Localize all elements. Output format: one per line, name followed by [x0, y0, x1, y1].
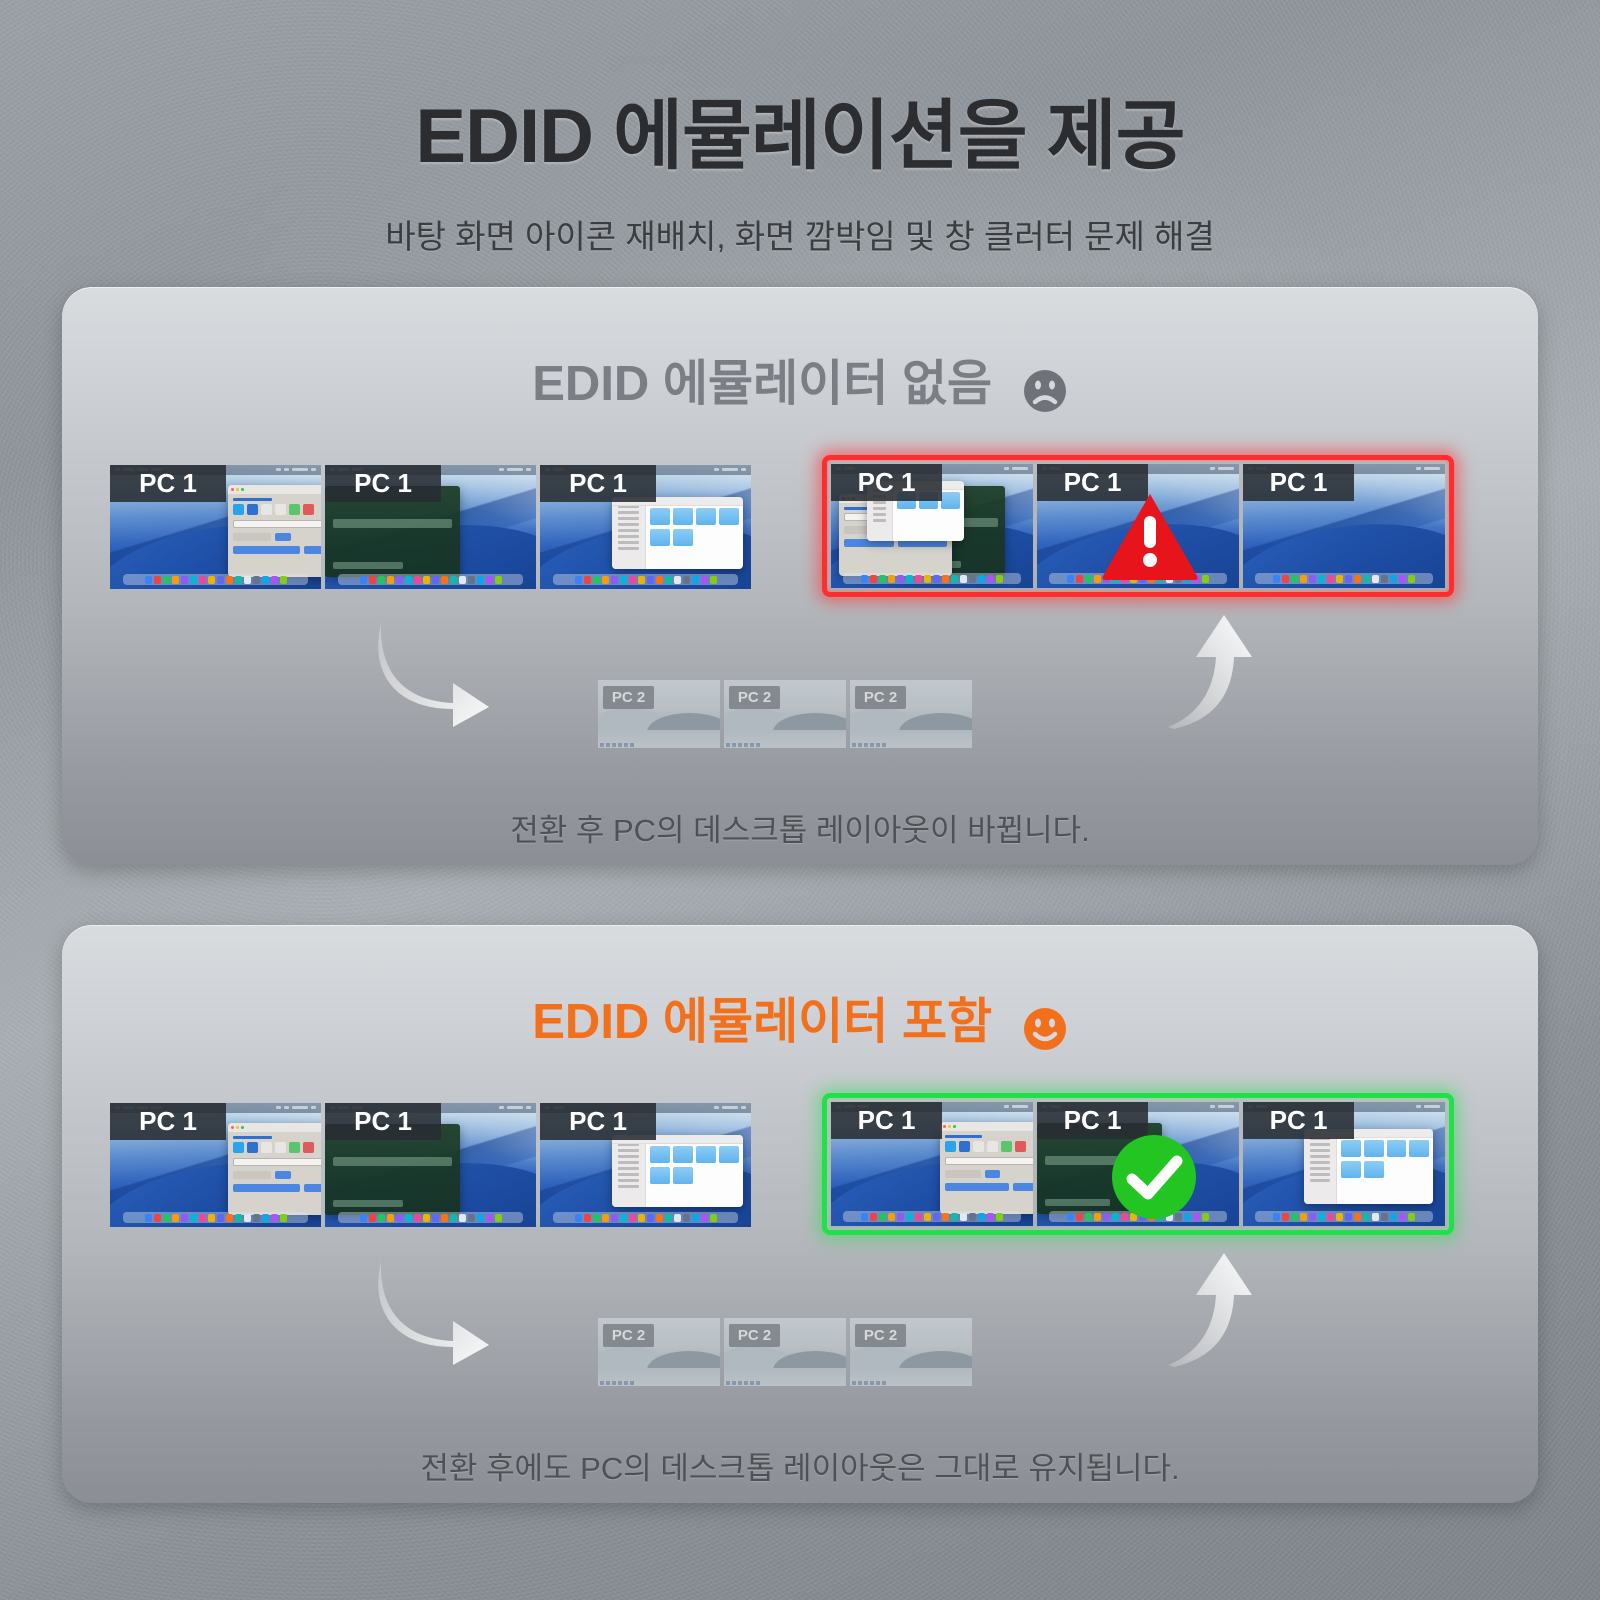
finder-window[interactable] — [612, 1135, 743, 1207]
monitor-pc1-a[interactable]: PC 1 — [110, 1103, 321, 1227]
folder-icon — [696, 1146, 716, 1163]
folder-icon — [650, 1146, 670, 1163]
finder-content — [646, 497, 743, 569]
finder-window[interactable] — [612, 497, 743, 569]
panel-with-edid: EDID 에뮬레이터 포함 — [62, 925, 1538, 1503]
folder-icon — [673, 1146, 693, 1163]
dock — [843, 1211, 1021, 1222]
settings-window[interactable] — [940, 1122, 1033, 1214]
arrow-down-right — [357, 617, 497, 732]
panel-title-text: EDID 에뮬레이터 없음 — [532, 357, 992, 411]
panel-caption-with-edid: 전환 후에도 PC의 데스크톱 레이아웃은 그대로 유지됩니다. — [62, 1443, 1538, 1488]
folder-icon — [650, 1167, 670, 1184]
monitor-pc2-a[interactable]: PC 2 — [598, 1318, 720, 1386]
panel-title-text: EDID 에뮬레이터 포함 — [532, 995, 992, 1049]
monitor-label: PC 1 — [354, 468, 412, 499]
folder-icon — [650, 529, 670, 546]
monitor-result-c[interactable]: PC 1 — [1243, 464, 1445, 588]
source-monitor-group-top: PC 1 PC 1 — [110, 465, 751, 589]
monitor-label: PC 1 — [1064, 1105, 1122, 1136]
folder-icon — [650, 508, 670, 525]
arrow-up-right — [1158, 609, 1268, 734]
monitor-pc2-c[interactable]: PC 2 — [850, 680, 972, 748]
dock — [553, 574, 739, 585]
monitor-pc1-c[interactable]: PC 1 — [540, 1103, 751, 1227]
monitor-label: PC 1 — [354, 1106, 412, 1137]
dock — [1255, 1211, 1433, 1222]
smiley-face-icon — [1022, 1000, 1068, 1056]
folder-icon — [696, 508, 716, 525]
monitor-label-badge: PC 1 — [110, 1103, 226, 1140]
monitor-pc1-a[interactable]: PC 1 — [110, 465, 321, 589]
monitor-label-badge: PC 1 — [540, 465, 656, 502]
window-titlebar — [228, 1123, 321, 1132]
folder-icon — [719, 1146, 739, 1163]
monitor-label-badge: PC 1 — [325, 1103, 441, 1140]
window-titlebar — [940, 1122, 1033, 1131]
page-subtitle: 바탕 화면 아이콘 재배치, 화면 깜박임 및 창 클러터 문제 해결 — [0, 210, 1600, 258]
folder-icon — [1364, 1161, 1384, 1178]
arrow-down-right — [357, 1255, 497, 1370]
dock — [338, 574, 524, 585]
monitor-label-badge: PC 1 — [1243, 1102, 1354, 1139]
settings-window[interactable] — [228, 485, 321, 577]
dock — [338, 1212, 524, 1223]
monitor-label-badge: PC 1 — [831, 464, 942, 501]
panel-title-with-edid: EDID 에뮬레이터 포함 — [62, 982, 1538, 1056]
window-titlebar — [228, 485, 321, 494]
monitor-label-badge: PC 1 — [110, 465, 226, 502]
panel-without-edid: EDID 에뮬레이터 없음 — [62, 287, 1538, 865]
finder-content — [1337, 1129, 1433, 1203]
page-title: EDID 에뮬레이션을 제공 — [0, 74, 1600, 184]
monitor-pc1-c[interactable]: PC 1 — [540, 465, 751, 589]
folder-icon — [1341, 1161, 1361, 1178]
folder-icon — [1387, 1140, 1407, 1157]
folder-icon — [673, 529, 693, 546]
settings-window[interactable] — [228, 1123, 321, 1215]
source-monitor-group-bottom: PC 1 PC 1 — [110, 1103, 751, 1227]
monitor-label-badge: PC 1 — [1243, 464, 1354, 501]
monitor-label: PC 1 — [858, 467, 916, 498]
check-circle-icon — [1110, 1133, 1198, 1226]
finder-content — [646, 1135, 743, 1207]
panel-caption-without-edid: 전환 후 PC의 데스크톱 레이아웃이 바뀝니다. — [62, 805, 1538, 850]
monitor-pc2-b[interactable]: PC 2 — [724, 1318, 846, 1386]
monitor-result-c[interactable]: PC 1 — [1243, 1102, 1445, 1226]
window-body — [228, 494, 321, 563]
folder-icon — [719, 508, 739, 525]
page-header: EDID 에뮬레이션을 제공 바탕 화면 아이콘 재배치, 화면 깜박임 및 창… — [0, 0, 1600, 258]
monitor-label: PC 1 — [1270, 467, 1328, 498]
monitor-label: PC 1 — [569, 468, 627, 499]
monitor-label: PC 1 — [569, 1106, 627, 1137]
folder-icon — [1409, 1140, 1429, 1157]
monitor-pc1-b[interactable]: PC 1 — [325, 1103, 536, 1227]
monitor-label: PC 1 — [139, 468, 197, 499]
dock — [553, 1212, 739, 1223]
dock — [1255, 573, 1433, 584]
warning-triangle-icon — [1100, 490, 1200, 587]
monitor-pc2-c[interactable]: PC 2 — [850, 1318, 972, 1386]
monitor-pc1-b[interactable]: PC 1 — [325, 465, 536, 589]
switch-monitor-group-bottom: PC 2 PC 2 PC 2 — [598, 1318, 972, 1386]
folder-icon — [1341, 1140, 1361, 1157]
finder-window[interactable] — [1304, 1129, 1433, 1203]
switch-monitor-group-top: PC 2 PC 2 PC 2 — [598, 680, 972, 748]
window-body — [940, 1131, 1033, 1200]
dock — [843, 573, 1021, 584]
monitor-result-a[interactable]: PC 1 — [831, 1102, 1033, 1226]
monitor-label-badge: PC 1 — [540, 1103, 656, 1140]
monitor-result-a[interactable]: PC 1 — [831, 464, 1033, 588]
finder-sidebar — [612, 1135, 646, 1207]
monitor-label: PC 1 — [139, 1106, 197, 1137]
monitor-label: PC 1 — [1270, 1105, 1328, 1136]
folder-icon — [941, 492, 960, 509]
monitor-label-badge: PC 1 — [831, 1102, 942, 1139]
arrow-up-right — [1158, 1247, 1268, 1372]
folder-icon — [1364, 1140, 1384, 1157]
monitor-pc2-b[interactable]: PC 2 — [724, 680, 846, 748]
dock — [123, 1212, 309, 1223]
monitor-label-badge: PC 1 — [325, 465, 441, 502]
folder-icon — [673, 508, 693, 525]
window-body — [228, 1132, 321, 1201]
dock — [123, 574, 309, 585]
monitor-label: PC 1 — [858, 1105, 916, 1136]
panel-title-without-edid: EDID 에뮬레이터 없음 — [62, 344, 1538, 418]
monitor-pc2-a[interactable]: PC 2 — [598, 680, 720, 748]
finder-sidebar — [1304, 1129, 1338, 1203]
sad-face-icon — [1022, 362, 1068, 418]
finder-sidebar — [612, 497, 646, 569]
folder-icon — [673, 1167, 693, 1184]
